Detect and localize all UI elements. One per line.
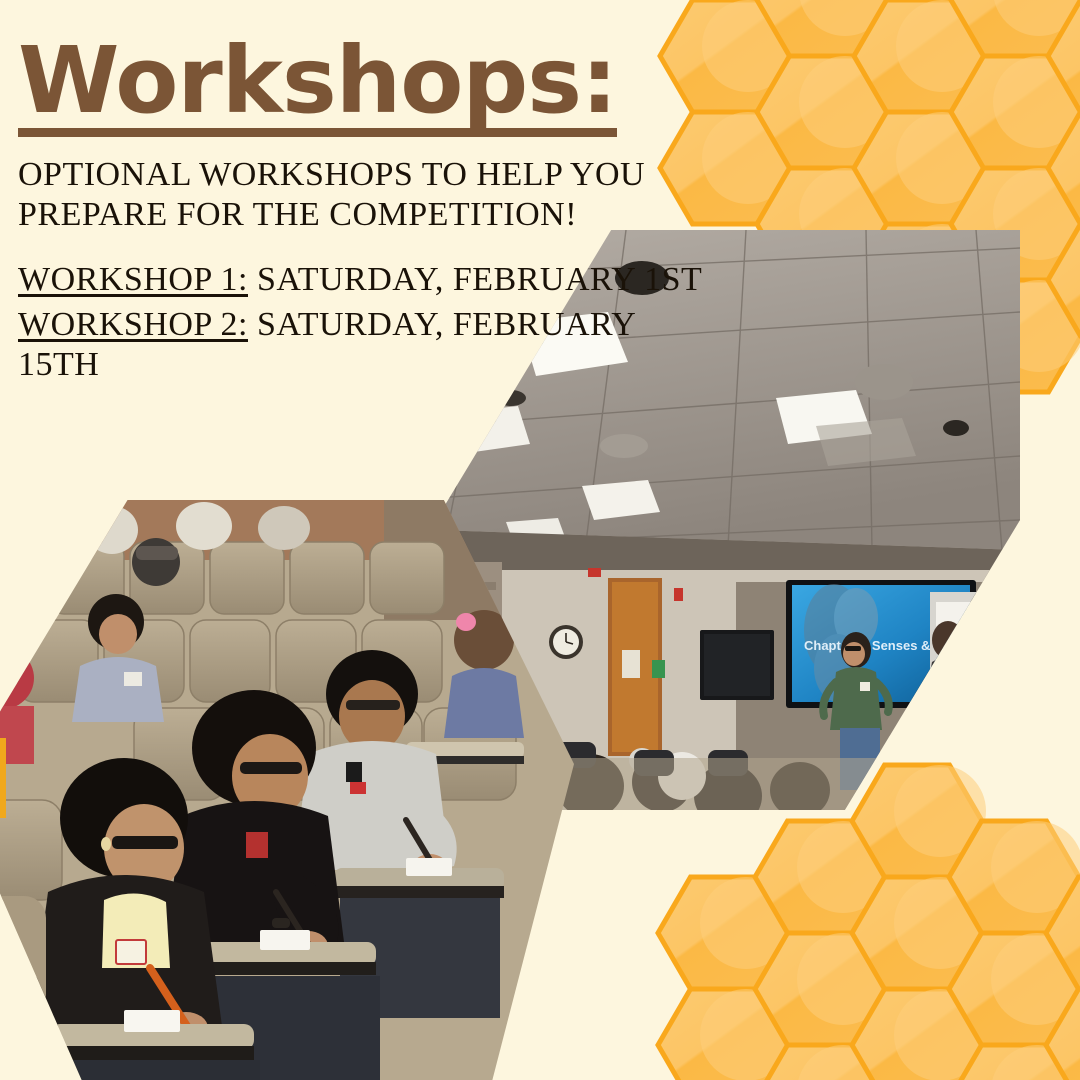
text-block: Workshops: OPTIONAL WORKSHOPS TO HELP YO… xyxy=(18,36,718,390)
page-title: Workshops: xyxy=(18,36,617,137)
schedule-value-1: SATURDAY, FEBRUARY 1ST xyxy=(248,261,702,298)
schedule-label-2: WORKSHOP 2: xyxy=(18,306,248,343)
slide-title-text: Chapter 2: Senses & Perception xyxy=(804,638,1001,653)
schedule-label-1: WORKSHOP 1: xyxy=(18,261,248,298)
schedule-item-2: WORKSHOP 2: SATURDAY, FEBRUARY 15TH xyxy=(18,305,718,384)
subtitle-text: OPTIONAL WORKSHOPS TO HELP YOU PREPARE F… xyxy=(18,155,718,234)
schedule-list: WORKSHOP 1: SATURDAY, FEBRUARY 1ST WORKS… xyxy=(18,260,718,384)
poster-canvas: Chapter 2: Senses & Perception xyxy=(0,0,1080,1080)
schedule-item-1: WORKSHOP 1: SATURDAY, FEBRUARY 1ST xyxy=(18,260,718,299)
